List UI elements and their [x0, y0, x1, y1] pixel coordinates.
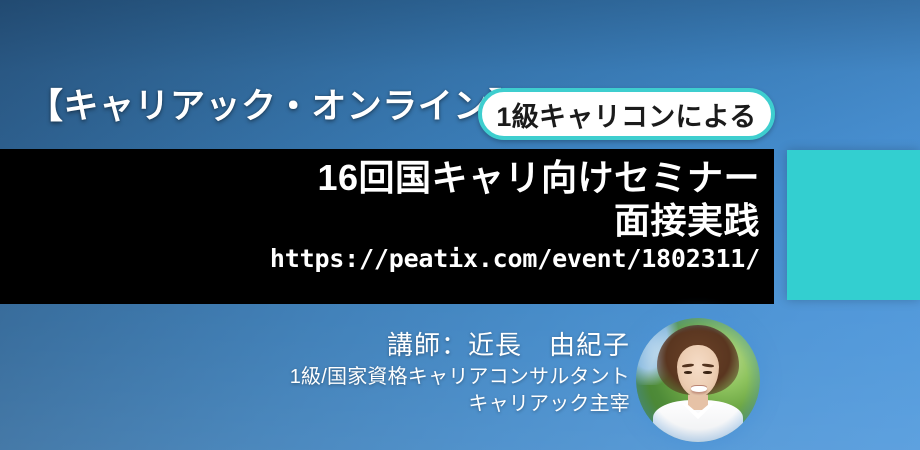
presenter-portrait-photo — [636, 318, 760, 442]
badge-pill: 1級キャリコンによる — [478, 88, 775, 140]
portrait-edge-fade — [636, 318, 760, 442]
presenter-block: 講師：近長 由紀子 1級/国家資格キャリアコンサルタント キャリアック主宰 — [180, 330, 630, 417]
teal-accent-block — [787, 150, 920, 300]
title-main: 16回国キャリ向けセミナー — [317, 157, 760, 199]
title-subtitle: 面接実践 — [614, 200, 760, 242]
title-bar: 16回国キャリ向けセミナー 面接実践 https://peatix.com/ev… — [0, 149, 774, 304]
badge-label: 1級キャリコンによる — [496, 95, 756, 134]
event-url[interactable]: https://peatix.com/event/1802311/ — [270, 245, 760, 274]
seminar-poster: 【キャリアック・オンライン】 1級キャリコンによる 16回国キャリ向けセミナー … — [0, 0, 920, 450]
presenter-name: 講師：近長 由紀子 — [180, 330, 630, 362]
kicker-text: 【キャリアック・オンライン】 — [28, 86, 474, 127]
presenter-qualification: 1級/国家資格キャリアコンサルタント — [180, 365, 630, 390]
presenter-organization: キャリアック主宰 — [180, 392, 630, 417]
